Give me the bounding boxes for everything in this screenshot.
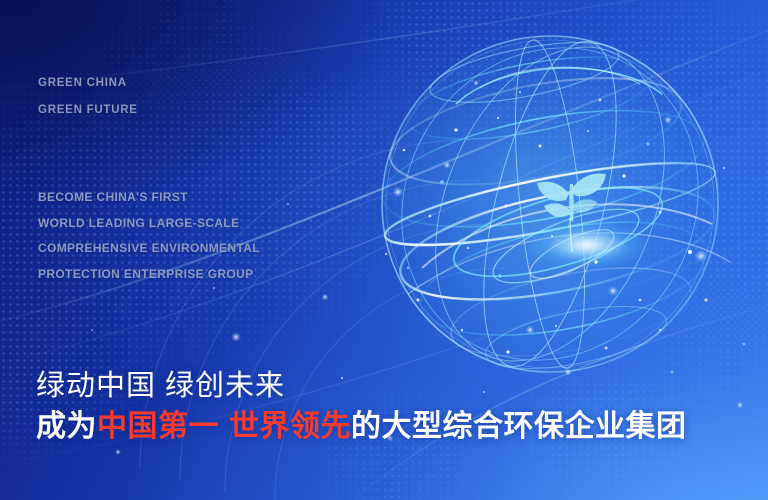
subhead-line-2: WORLD LEADING LARGE-SCALE xyxy=(38,211,260,237)
headline-line-2: 成为中国第一世界领先的大型综合环保企业集团 xyxy=(36,406,756,448)
eyebrow-line-2: GREEN FUTURE xyxy=(38,97,138,124)
headline-prefix: 成为 xyxy=(36,410,97,443)
eyebrow-tagline: GREEN CHINA GREEN FUTURE xyxy=(38,70,138,124)
eyebrow-line-1: GREEN CHINA xyxy=(38,70,138,97)
globe-halo-glow xyxy=(400,60,710,360)
sprout-seedling-icon xyxy=(524,160,616,256)
subhead-line-4: PROTECTION ENTERPRISE GROUP xyxy=(38,262,260,288)
globe-svg xyxy=(352,18,752,390)
headline-suffix: 的大型综合环保企业集团 xyxy=(351,410,687,443)
center-glow-burst xyxy=(527,222,647,268)
subhead-line-1: BECOME CHINA'S FIRST xyxy=(38,185,260,211)
english-subheading: BECOME CHINA'S FIRST WORLD LEADING LARGE… xyxy=(38,185,260,287)
headline-block: 绿动中国 绿创未来 成为中国第一世界领先的大型综合环保企业集团 xyxy=(36,366,756,448)
wireframe-globe xyxy=(352,18,752,390)
headline-highlight-a: 中国第一 xyxy=(97,410,219,443)
subhead-line-3: COMPREHENSIVE ENVIRONMENTAL xyxy=(38,236,260,262)
hero-banner: GREEN CHINA GREEN FUTURE BECOME CHINA'S … xyxy=(0,0,768,500)
headline-line-1: 绿动中国 绿创未来 xyxy=(36,366,756,406)
headline-highlight-b: 世界领先 xyxy=(229,410,351,443)
